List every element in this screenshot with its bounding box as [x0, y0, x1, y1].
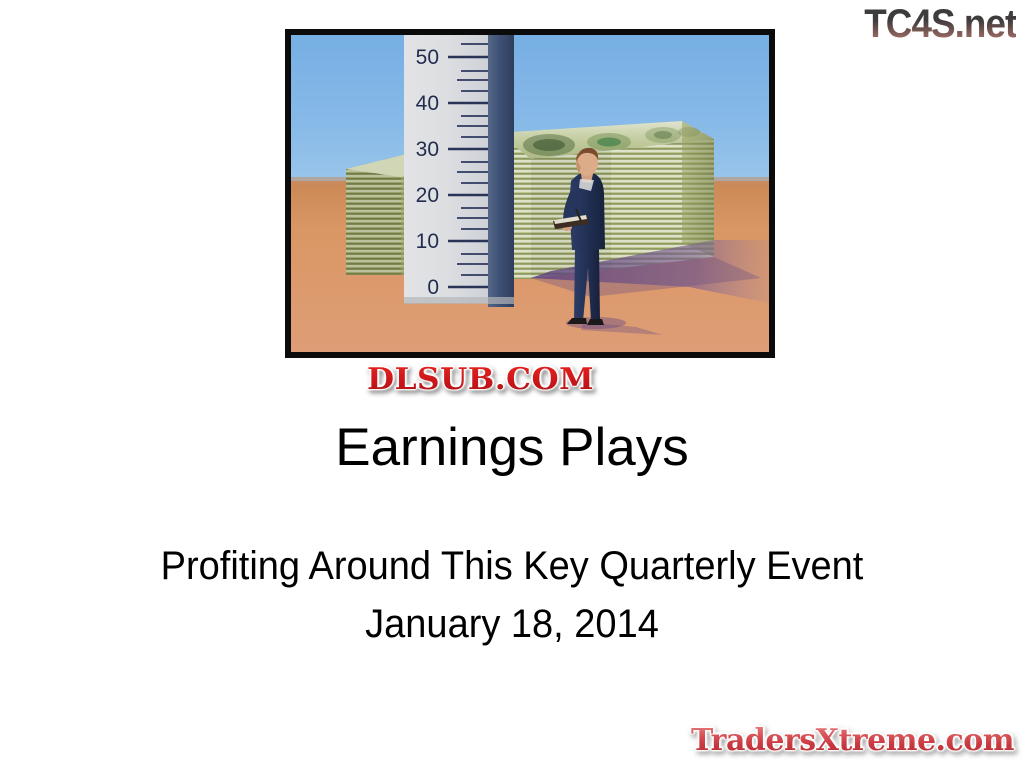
tradersxtreme-watermark: TradersXtreme.com [691, 723, 1014, 759]
slide-title: Earnings Plays [0, 417, 1024, 479]
illustration-artwork: 50 40 30 20 10 0 [291, 35, 769, 352]
slide-illustration: 50 40 30 20 10 0 [285, 29, 775, 358]
slide-subtitle: Profiting Around This Key Quarterly Even… [0, 537, 1024, 653]
subtitle-line-tagline: Profiting Around This Key Quarterly Even… [26, 537, 999, 595]
site-logo-tc4s: TC4S.net [864, 2, 1016, 46]
dlsub-watermark: DLSUB.COM [367, 363, 594, 397]
subtitle-line-date: January 18, 2014 [26, 595, 999, 653]
